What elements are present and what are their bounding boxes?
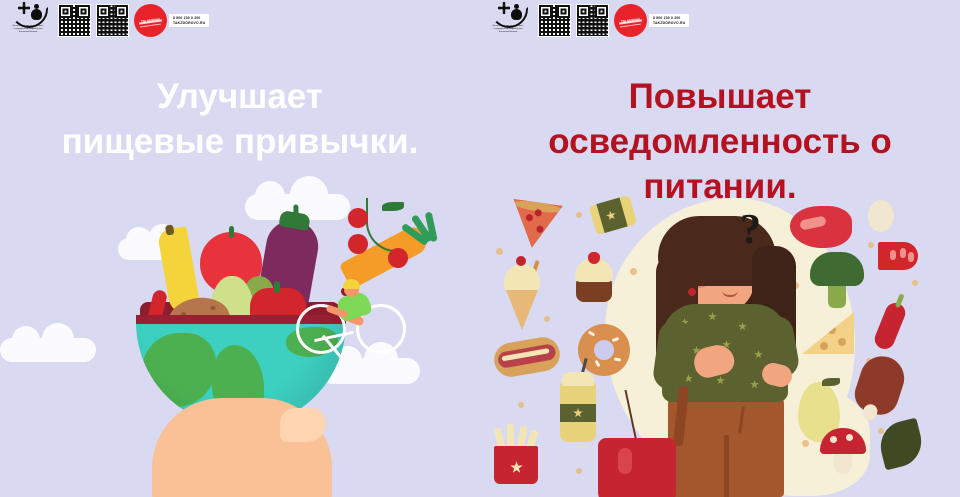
cloud-icon: [0, 338, 96, 362]
mushroom-icon: [820, 428, 866, 474]
pizza-slice-icon: [507, 199, 563, 252]
slide-filmstrip: Центр общественного здоровья и медицинск…: [0, 0, 960, 497]
header-logo-strip: Центр общественного здоровья и медицинск…: [0, 0, 209, 44]
question-mark-icon: ?: [740, 206, 761, 254]
hotline-website: TAKZDOROVO.RU: [653, 21, 685, 25]
donut-icon: [578, 324, 630, 376]
chili-pepper-icon: [872, 300, 909, 352]
qr-code-2[interactable]: [96, 4, 129, 37]
cherry-icon: [348, 234, 368, 254]
hotline-badge[interactable]: Так здорово 8 800 200 0 200 TAKZDOROVO.R…: [614, 4, 689, 37]
qr-code-1[interactable]: [58, 4, 91, 37]
tomato-slice-icon: [878, 242, 918, 270]
hotline-contact: 8 800 200 0 200 TAKZDOROVO.RU: [169, 14, 209, 27]
takzdorovo-logo-icon: Так здорово: [134, 4, 167, 37]
hotline-phone: 8 800 200 0 200: [173, 16, 205, 20]
bag-handle-icon: [624, 390, 695, 442]
handbag-icon: [598, 438, 676, 497]
medical-cross-caduceus-logo-icon: [9, 2, 47, 24]
french-fries-icon: [494, 428, 538, 484]
organization-logo: Центр общественного здоровья и медицинск…: [483, 2, 533, 44]
hotline-contact: 8 800 200 0 200 TAKZDOROVO.RU: [649, 14, 689, 27]
slide-improves-eating-habits[interactable]: Центр общественного здоровья и медицинск…: [0, 0, 480, 497]
broccoli-icon: [810, 252, 864, 308]
headline-line-2: пищевые привычки.: [0, 119, 480, 164]
steak-icon: [790, 206, 852, 248]
egg-icon: [868, 200, 894, 232]
header-logo-strip: Центр общественного здоровья и медицинск…: [480, 0, 689, 44]
page-title: Улучшает пищевые привычки.: [0, 74, 480, 164]
hotline-badge[interactable]: Так здорово 8 800 200 0 200 TAKZDOROVO.R…: [134, 4, 209, 37]
cherry-icon: [388, 248, 408, 268]
hotline-website: TAKZDOROVO.RU: [173, 21, 205, 25]
headline-line-1: Повышает: [480, 74, 960, 119]
earth-bowl-illustration: [0, 180, 480, 497]
qr-code-1[interactable]: [538, 4, 571, 37]
medical-cross-caduceus-logo-icon: [489, 2, 527, 24]
confused-woman-illustration: ?: [480, 190, 960, 497]
soda-can-icon: [589, 195, 638, 235]
headline-line-1: Улучшает: [0, 74, 480, 119]
page-title: Повышает осведомленность о питании.: [480, 74, 960, 209]
qr-code-2[interactable]: [576, 4, 609, 37]
takzdorovo-logo-icon: Так здорово: [614, 4, 647, 37]
hot-dog-icon: [492, 335, 563, 380]
cherry-icon: [348, 208, 368, 228]
cupcake-icon: [572, 254, 616, 302]
hand-icon: [152, 398, 332, 497]
hotline-phone: 8 800 200 0 200: [653, 16, 685, 20]
organization-logo: Центр общественного здоровья и медицинск…: [3, 2, 53, 44]
ice-cream-cone-icon: [502, 256, 542, 330]
soda-cup-icon: [560, 382, 596, 442]
leafy-green-icon: [875, 418, 926, 471]
slide-raises-nutrition-awareness[interactable]: Центр общественного здоровья и медицинск…: [480, 0, 960, 497]
cherry-leaf-icon: [382, 202, 404, 211]
cyclist-icon: [296, 278, 406, 354]
